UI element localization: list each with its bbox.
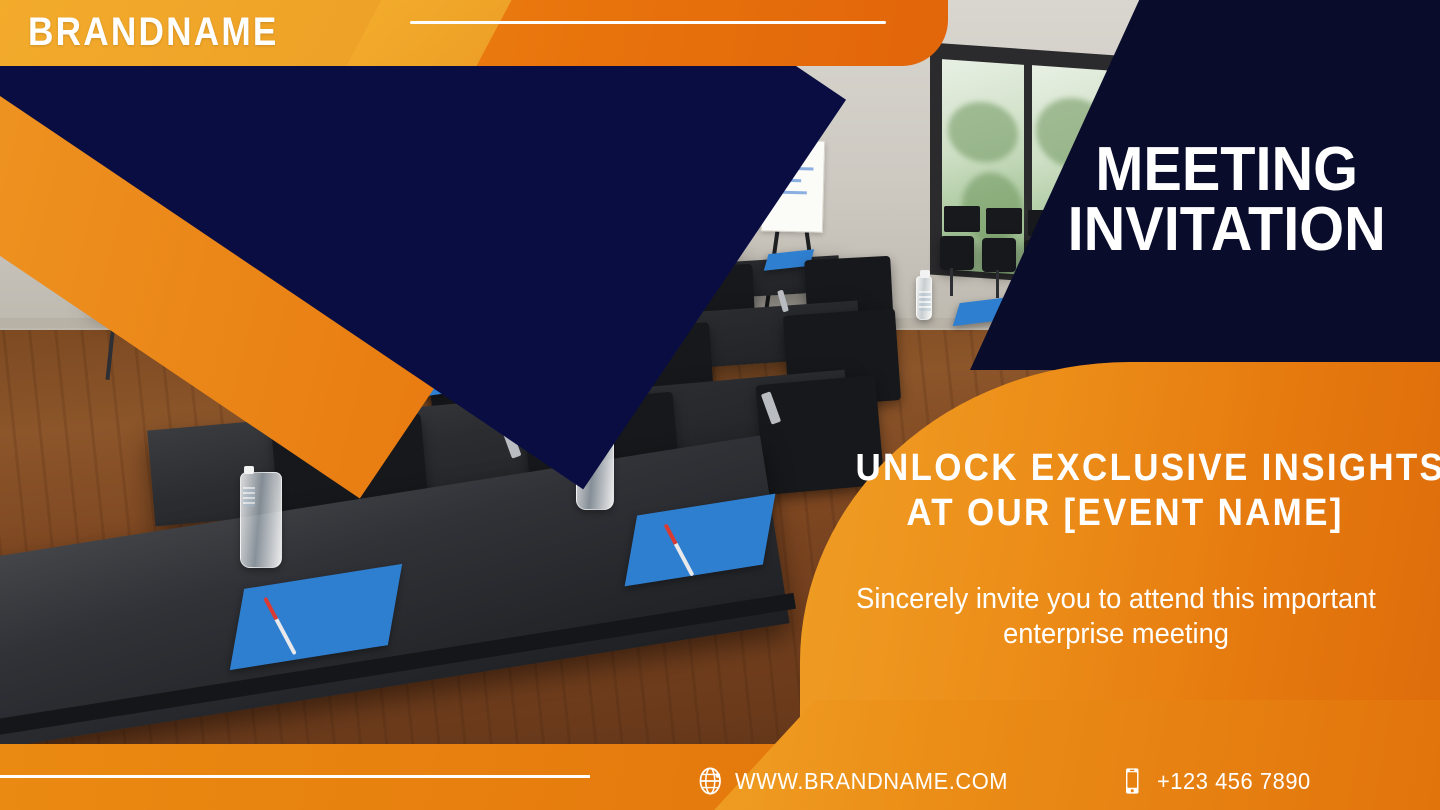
phone-contact[interactable]: +123 456 7890 <box>1118 766 1311 796</box>
brand-logo-text: BRANDNAME <box>28 10 279 55</box>
subtitle-line-1: Sincerely invite you to attend this impo… <box>830 582 1402 617</box>
monitor <box>986 208 1022 234</box>
footer-divider-line <box>0 775 590 778</box>
subtitle-line-2: enterprise meeting <box>830 617 1402 652</box>
chair <box>940 236 974 270</box>
website-contact[interactable]: WWW.BRANDNAME.COM <box>696 766 1008 796</box>
headline-line-2: AT OUR [EVENT NAME] <box>855 491 1394 536</box>
chair <box>982 238 1016 272</box>
globe-icon <box>696 766 725 796</box>
headline-line-1: UNLOCK EXCLUSIVE INSIGHTS <box>855 446 1394 491</box>
meeting-invitation-poster: BRANDNAME MEETING INVITATION UNLOCK EXCL… <box>0 0 1440 810</box>
website-label: WWW.BRANDNAME.COM <box>735 768 1008 795</box>
header-divider-line <box>410 21 886 24</box>
page-title: MEETING INVITATION <box>1031 140 1422 259</box>
chair-leg <box>950 268 953 296</box>
monitor <box>944 206 980 232</box>
subtitle-text: Sincerely invite you to attend this impo… <box>830 582 1402 653</box>
water-bottle <box>916 276 932 320</box>
mobile-phone-icon <box>1118 766 1147 796</box>
title-line-2: INVITATION <box>1031 200 1422 260</box>
title-line-1: MEETING <box>1031 140 1422 200</box>
headline: UNLOCK EXCLUSIVE INSIGHTS AT OUR [EVENT … <box>855 446 1394 536</box>
chair-leg <box>996 270 999 298</box>
water-bottle <box>240 472 282 568</box>
phone-label: +123 456 7890 <box>1157 768 1311 795</box>
